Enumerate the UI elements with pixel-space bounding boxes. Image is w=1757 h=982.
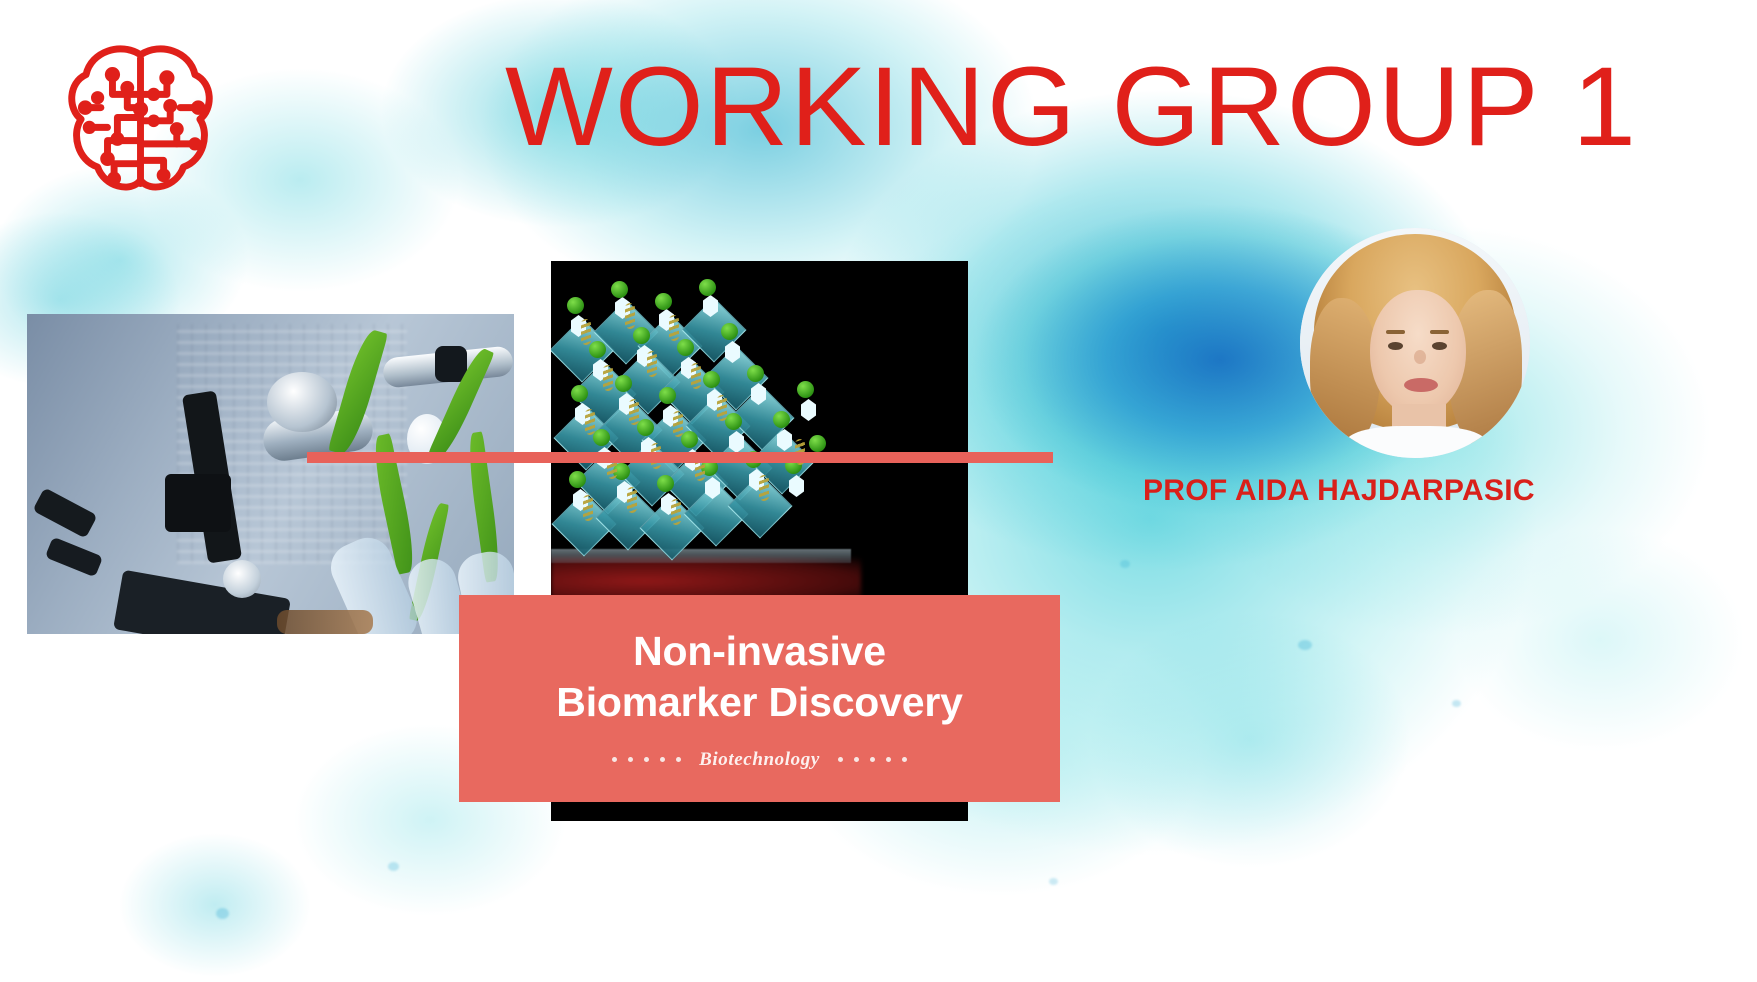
dots-right	[838, 757, 907, 762]
lab-steel-screw	[223, 560, 261, 598]
lab-steel-knob	[267, 372, 337, 432]
lab-instrument-block	[165, 474, 231, 532]
caption-subtitle-row: Biotechnology	[612, 749, 907, 771]
caption-title-line1: Non-invasive	[556, 626, 962, 676]
presenter-name: PROF AIDA HAJDARPASIC	[1143, 474, 1535, 508]
red-horizontal-rule	[307, 452, 1053, 463]
slide-title: WORKING GROUP 1	[505, 48, 1757, 166]
nano-crystal-cluster-upper	[551, 279, 851, 569]
lab-microscope-photo	[27, 314, 514, 634]
portrait-nose	[1414, 350, 1426, 364]
paint-splatter	[1452, 700, 1461, 707]
brain-circuit-logo	[58, 35, 223, 200]
caption-title: Non-invasive Biomarker Discovery	[556, 626, 962, 726]
presentation-slide: WORKING GROUP 1	[0, 0, 1757, 982]
caption-card: Non-invasive Biomarker Discovery Biotech…	[459, 595, 1060, 802]
paint-splatter	[216, 908, 229, 919]
portrait-eyebrow-left	[1386, 330, 1405, 334]
presenter-avatar	[1300, 228, 1530, 458]
caption-title-line2: Biomarker Discovery	[556, 677, 962, 727]
portrait-eye-right	[1432, 342, 1447, 350]
portrait-mouth	[1404, 378, 1438, 392]
caption-subtitle: Biotechnology	[699, 749, 820, 771]
paint-splatter	[1298, 640, 1312, 650]
portrait-shirt	[1346, 426, 1486, 458]
paint-splatter	[1049, 878, 1058, 885]
paint-splatter	[388, 862, 399, 871]
portrait-eyebrow-right	[1430, 330, 1449, 334]
lab-soil-patch	[277, 610, 373, 634]
portrait-eye-left	[1388, 342, 1403, 350]
dots-left	[612, 757, 681, 762]
paint-splatter	[1120, 560, 1130, 568]
